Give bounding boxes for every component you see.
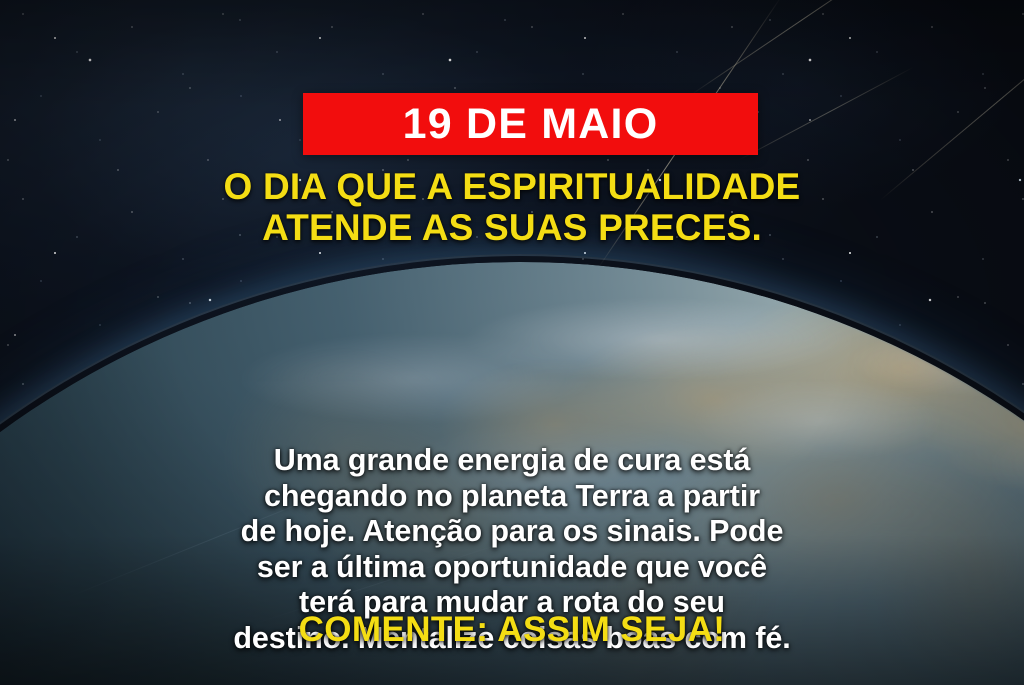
headline-line-2: ATENDE AS SUAS PRECES. xyxy=(40,207,984,248)
headline-line-1: O DIA QUE A ESPIRITUALIDADE xyxy=(40,166,984,207)
poster-content: 19 DE MAIO O DIA QUE A ESPIRITUALIDADE A… xyxy=(0,0,1024,685)
date-banner-label: 19 DE MAIO xyxy=(403,103,659,146)
body-line-2: chegando no planeta Terra a partir xyxy=(62,479,962,515)
page-title: O DIA QUE A ESPIRITUALIDADE ATENDE AS SU… xyxy=(0,166,1024,248)
poster-canvas: 19 DE MAIO O DIA QUE A ESPIRITUALIDADE A… xyxy=(0,0,1024,685)
body-line-3: de hoje. Atenção para os sinais. Pode xyxy=(62,514,962,550)
date-banner: 19 DE MAIO xyxy=(303,93,758,155)
body-line-4: ser a última oportunidade que você xyxy=(62,550,962,586)
call-to-action-text: COMENTE: ASSIM SEJA! xyxy=(0,612,1024,647)
body-line-1: Uma grande energia de cura está xyxy=(62,443,962,479)
